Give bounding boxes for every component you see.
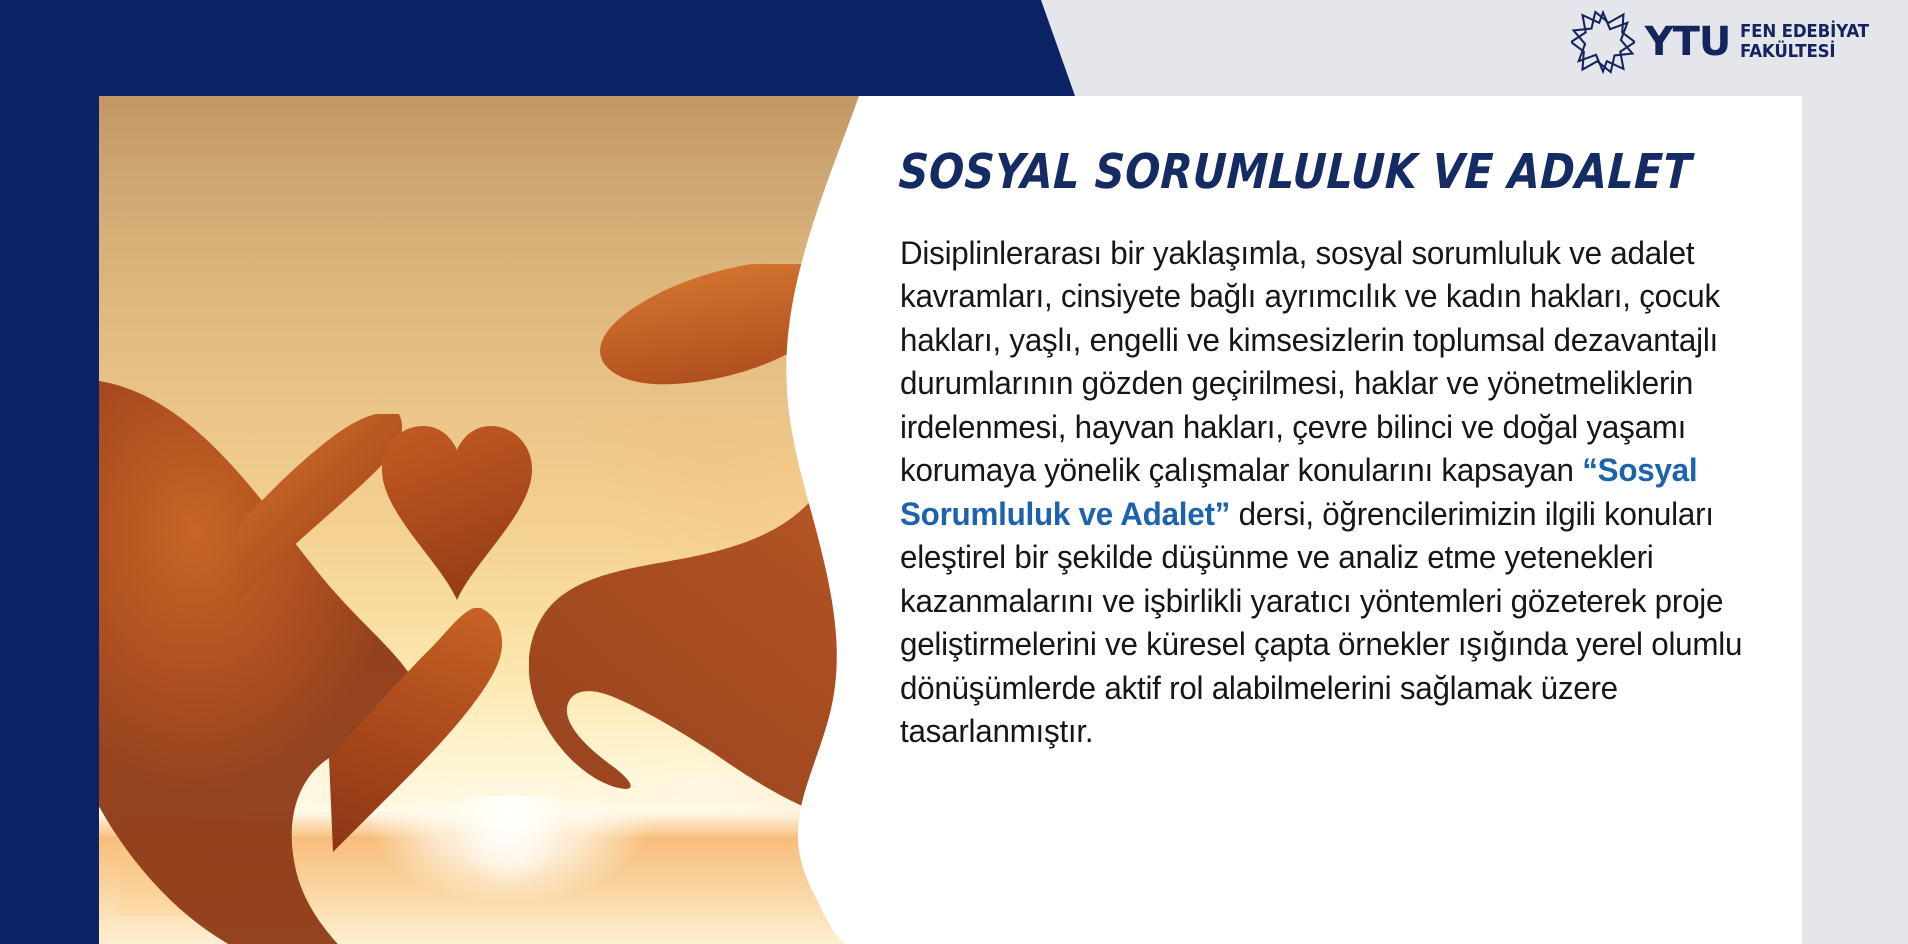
ytu-star-icon (1571, 10, 1635, 74)
course-description: Disiplinlerarası bir yaklaşımla, sosyal … (900, 199, 1759, 754)
hero-image (99, 96, 889, 944)
logo-subtitle: FEN EDEBİYAT FAKÜLTESİ (1740, 22, 1876, 62)
navy-header-band (0, 0, 1075, 96)
description-part-before: Disiplinlerarası bir yaklaşımla, sosyal … (900, 235, 1720, 489)
page-title: SOSYAL SORUMLULUK VE ADALET (898, 96, 1677, 199)
hero-image-masked (99, 96, 889, 944)
description-part-after: dersi, öğrencilerimizin ilgili konuları … (900, 496, 1742, 750)
ytu-logo: YTU FEN EDEBİYAT FAKÜLTESİ (1571, 10, 1876, 74)
logo-subtitle-line1: FEN EDEBİYAT (1740, 22, 1869, 42)
logo-wordmark: YTU (1645, 22, 1731, 62)
slide-canvas: YTU FEN EDEBİYAT FAKÜLTESİ SOSYAL SORUML… (0, 0, 1908, 944)
logo-subtitle-line2: FAKÜLTESİ (1740, 42, 1869, 62)
text-panel: SOSYAL SORUMLULUK VE ADALET Disiplinlera… (900, 96, 1800, 944)
navy-left-strip (0, 0, 99, 944)
sun-glow-icon (439, 796, 579, 944)
